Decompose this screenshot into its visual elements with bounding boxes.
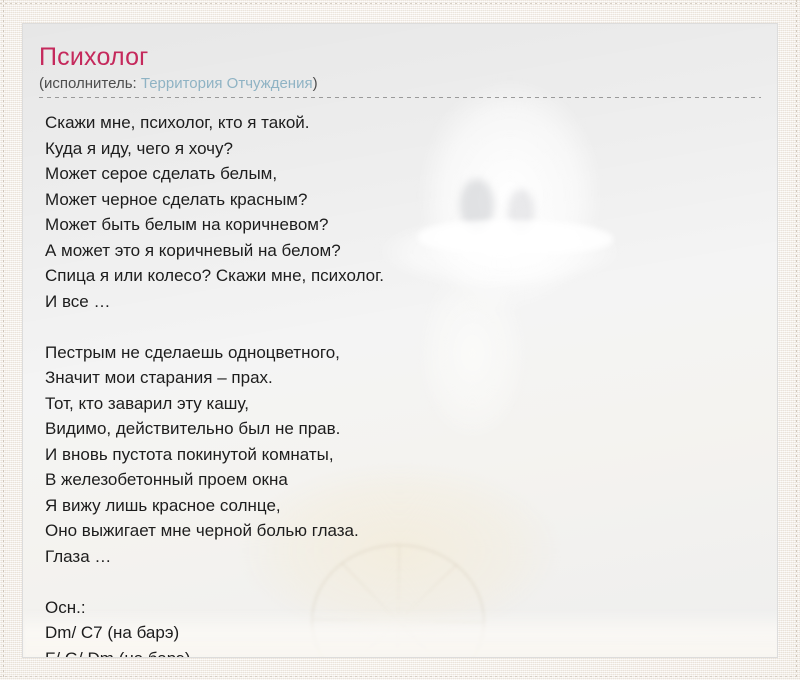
lyric-line: И вновь пустота покинутой комнаты, <box>45 442 777 468</box>
page-edge-rule-top <box>0 3 800 4</box>
lyric-line: Пестрым не сделаешь одноцветного, <box>45 340 777 366</box>
lyric-line: Может быть белым на коричневом? <box>45 212 777 238</box>
lyric-line: Значит мои старания – прах. <box>45 365 777 391</box>
artist-suffix-label: ) <box>313 75 318 92</box>
lyric-line: Видимо, действительно был не прав. <box>45 416 777 442</box>
lyric-line-spacer <box>45 314 777 340</box>
song-content-card: Психолог (исполнитель: Территория Отчужд… <box>22 23 778 658</box>
song-lyrics-block: Скажи мне, психолог, кто я такой.Куда я … <box>45 110 777 658</box>
lyric-line: Я вижу лишь красное солнце, <box>45 493 777 519</box>
lyric-line: Глаза … <box>45 544 777 570</box>
song-body: Психолог (исполнитель: Территория Отчужд… <box>23 24 777 658</box>
artist-prefix-label: (исполнитель: <box>39 75 141 92</box>
page-edge-rule-bottom <box>0 676 800 677</box>
lyric-line: И все … <box>45 289 777 315</box>
artist-credit-line: (исполнитель: Территория Отчуждения) <box>39 74 777 94</box>
lyric-line: Скажи мне, психолог, кто я такой. <box>45 110 777 136</box>
page-edge-rule-left <box>3 0 4 680</box>
lyric-line: Dm/ C7 (на барэ) <box>45 620 777 646</box>
header-divider <box>39 97 761 98</box>
lyric-line: А может это я коричневый на белом? <box>45 238 777 264</box>
lyric-line: Тот, кто заварил эту кашу, <box>45 391 777 417</box>
lyric-line: В железобетонный проем окна <box>45 467 777 493</box>
page-edge-rule-right <box>796 0 797 680</box>
lyric-line: Куда я иду, чего я хочу? <box>45 136 777 162</box>
page-background: Психолог (исполнитель: Территория Отчужд… <box>0 0 800 680</box>
song-title: Психолог <box>39 42 777 72</box>
lyric-line: Может серое сделать белым, <box>45 161 777 187</box>
lyric-line: Может черное сделать красным? <box>45 187 777 213</box>
lyric-line: Спица я или колесо? Скажи мне, психолог. <box>45 263 777 289</box>
lyric-line: Оно выжигает мне черной болью глаза. <box>45 518 777 544</box>
artist-link[interactable]: Территория Отчуждения <box>141 75 313 92</box>
lyric-line: F/ G/ Dm (на барэ) <box>45 646 777 659</box>
lyric-line: Осн.: <box>45 595 777 621</box>
lyric-line-spacer <box>45 569 777 595</box>
